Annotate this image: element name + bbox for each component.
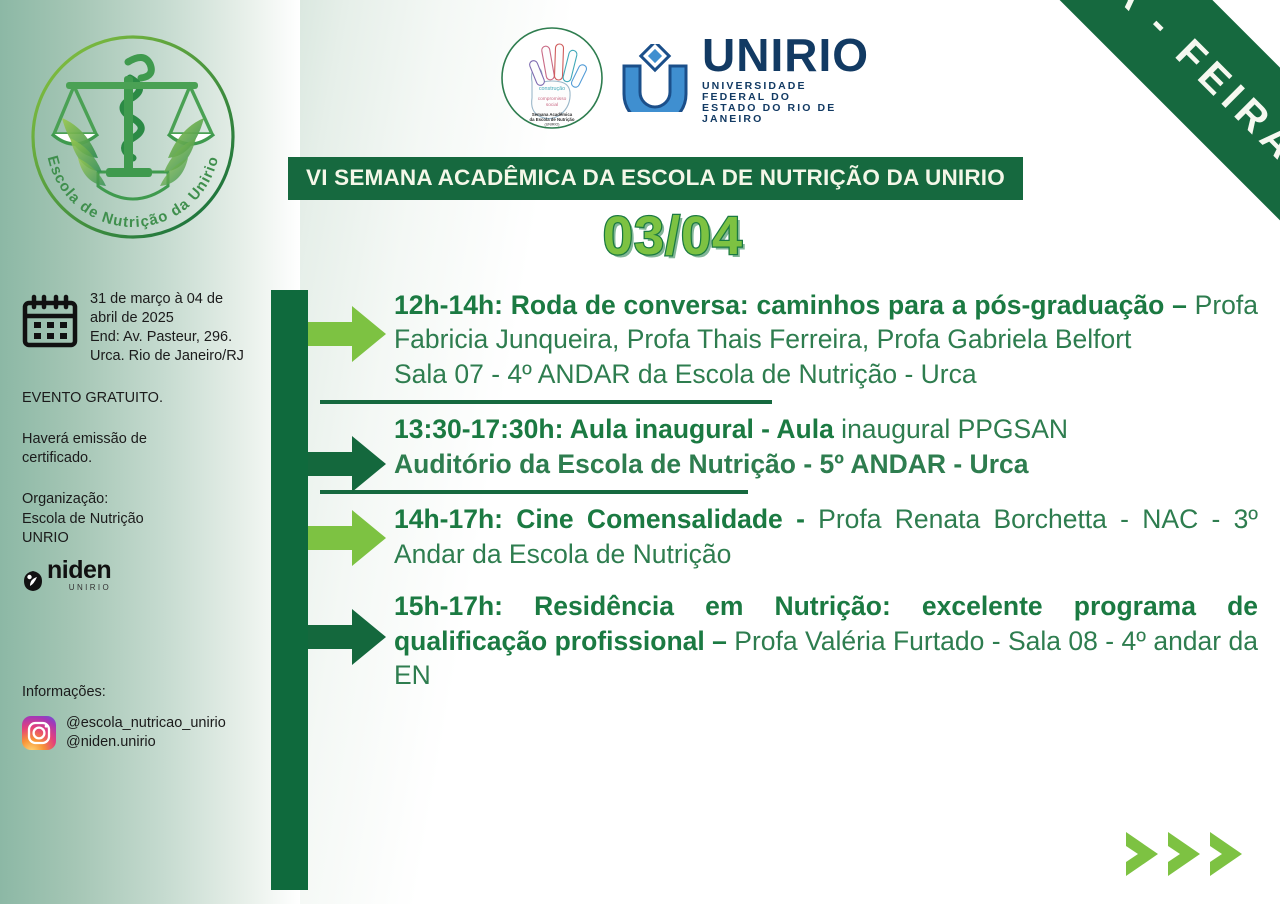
arrow-icon-3 [308, 508, 386, 568]
schedule-title-1: 12h-14h: Roda de conversa: caminhos para… [394, 290, 1187, 320]
weekday-ribbon: QUINTA - FEIRA [928, 0, 1280, 236]
organization-line-2: Escola de Nutrição [22, 510, 262, 529]
svg-text:(UNIRIO): (UNIRIO) [545, 123, 560, 127]
organization-block: Organização: Escola de Nutrição UNRIO [22, 490, 262, 548]
chevron-right-icon-2 [1164, 830, 1204, 878]
timeline-spine [271, 290, 308, 890]
unirio-subtitle-line1: UNIVERSIDADE FEDERAL DO [702, 81, 869, 102]
calendar-line-4: Urca. Rio de Janeiro/RJ [90, 347, 244, 366]
schedule-desc-2: inaugural PPGSAN [834, 414, 1068, 444]
schedule-item-2: 13:30-17:30h: Aula inaugural - Aula inau… [308, 412, 1258, 481]
schedule-list: 12h-14h: Roda de conversa: caminhos para… [308, 288, 1258, 692]
schedule-item-4: 15h-17h: Residência em Nutrição: excelen… [308, 589, 1258, 692]
chevron-right-icon-1 [1122, 830, 1162, 878]
top-logo-row: construção compromisso social Semana Aca… [500, 22, 840, 134]
event-poster: QUINTA - FEIRA [0, 0, 1280, 904]
unirio-logo: UNIRIO UNIVERSIDADE FEDERAL DO ESTADO DO… [618, 32, 869, 124]
unirio-wordmark: UNIRIO [702, 32, 869, 78]
calendar-row: 31 de março à 04 de abril de 2025 End: A… [22, 290, 262, 367]
instagram-row[interactable]: @escola_nutricao_unirio @niden.unirio [22, 714, 272, 752]
unirio-mark-icon [618, 44, 692, 112]
arrow-icon-1 [308, 304, 386, 364]
organization-line-3: UNRIO [22, 529, 262, 548]
semana-academica-seal-icon: construção compromisso social Semana Aca… [500, 26, 604, 130]
schedule-text-2: 13:30-17:30h: Aula inaugural - Aula inau… [394, 412, 1258, 481]
calendar-text: 31 de março à 04 de abril de 2025 End: A… [90, 290, 244, 367]
sidebar-info: 31 de março à 04 de abril de 2025 End: A… [22, 290, 262, 592]
info-label: Informações: [22, 684, 272, 700]
certificate-line-2: certificado. [22, 449, 262, 468]
schedule-location-2: Auditório da Escola de Nutrição - 5º AND… [394, 447, 1258, 481]
schedule-title-2: 13:30-17:30h: Aula inaugural - Aula [394, 414, 834, 444]
svg-text:compromisso: compromisso [538, 96, 567, 102]
svg-text:construção: construção [539, 86, 565, 92]
instagram-handle-2: @niden.unirio [66, 733, 226, 752]
organization-line-1: Organização: [22, 490, 262, 509]
calendar-line-3: End: Av. Pasteur, 296. [90, 328, 244, 347]
weekday-label: QUINTA - FEIRA [992, 0, 1280, 172]
unirio-subtitle-line2: ESTADO DO RIO DE JANEIRO [702, 103, 869, 124]
calendar-line-1: 31 de março à 04 de [90, 290, 244, 309]
contact-info: Informações: [22, 684, 272, 752]
instagram-icon[interactable] [22, 716, 56, 750]
schedule-location-1: Sala 07 - 4º ANDAR da Escola de Nutrição… [394, 357, 1258, 391]
calendar-icon [22, 294, 78, 350]
niden-logo: niden UNIRIO [22, 558, 262, 592]
svg-text:social: social [546, 102, 558, 108]
niden-subtitle: UNIRIO [47, 584, 111, 592]
instagram-handles: @escola_nutricao_unirio @niden.unirio [66, 714, 226, 752]
arrow-icon-2 [308, 434, 386, 494]
free-event-block: EVENTO GRATUITO. [22, 389, 262, 408]
escola-nutricao-seal-icon: Escola de Nutrição da Unirio [18, 22, 248, 252]
arrow-icon-4 [308, 607, 386, 667]
chevron-right-icon-3 [1206, 830, 1246, 878]
schedule-title-3: 14h-17h: Cine Comensalidade - [394, 504, 805, 534]
svg-text:da Escola de Nutrição: da Escola de Nutrição [530, 117, 575, 122]
certificate-line-1: Haverá emissão de [22, 430, 262, 449]
page-title: VI SEMANA ACADÊMICA DA ESCOLA DE NUTRIÇÃ… [288, 157, 1023, 200]
chevron-decoration [1122, 830, 1246, 878]
calendar-line-2: abril de 2025 [90, 309, 244, 328]
niden-mark-icon [22, 570, 44, 592]
instagram-handle-1: @escola_nutricao_unirio [66, 714, 226, 733]
schedule-text-3: 14h-17h: Cine Comensalidade - Profa Rena… [394, 502, 1258, 571]
niden-wordmark: niden [47, 558, 111, 583]
schedule-item-1: 12h-14h: Roda de conversa: caminhos para… [308, 288, 1258, 391]
certificate-block: Haverá emissão de certificado. [22, 430, 262, 469]
event-date: 03/04 [288, 205, 1058, 267]
schedule-item-3: 14h-17h: Cine Comensalidade - Profa Rena… [308, 502, 1258, 571]
schedule-text-1: 12h-14h: Roda de conversa: caminhos para… [394, 288, 1258, 391]
schedule-separator-1 [320, 400, 772, 404]
schedule-text-4: 15h-17h: Residência em Nutrição: excelen… [394, 589, 1258, 692]
free-event-text: EVENTO GRATUITO. [22, 389, 262, 408]
